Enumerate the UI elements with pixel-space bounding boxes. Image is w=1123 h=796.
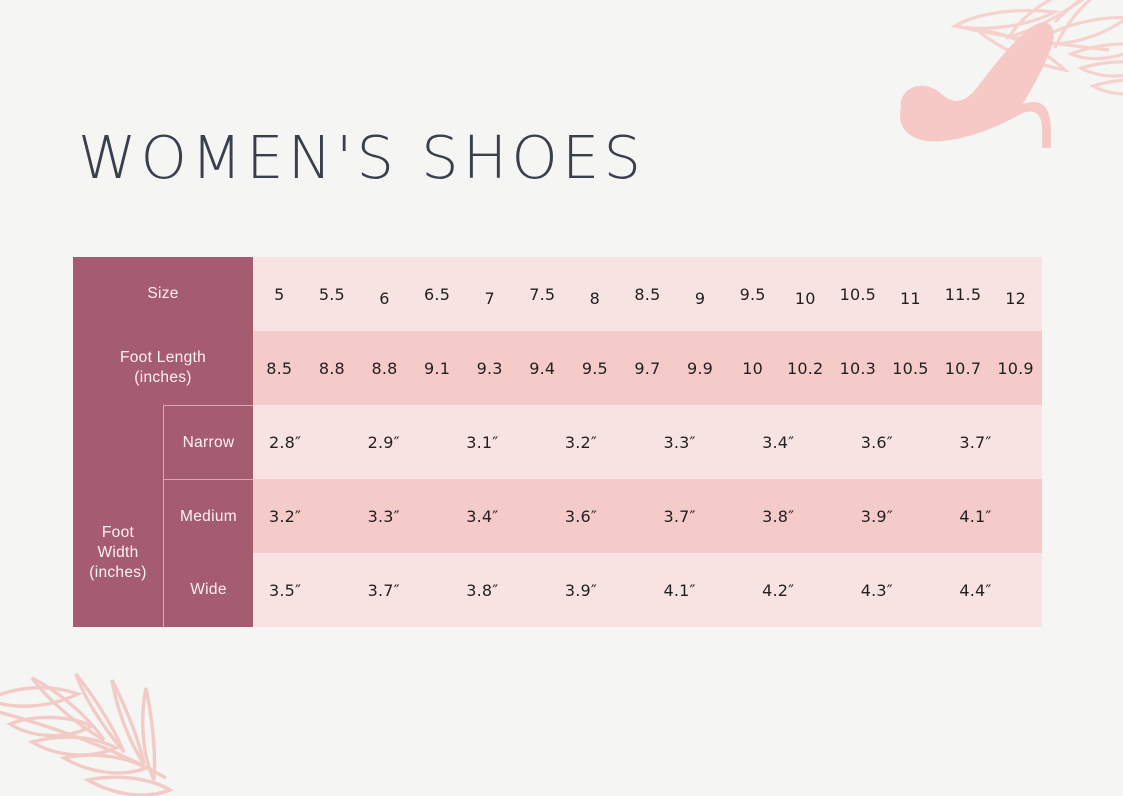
cell-foot-length: 9.5 bbox=[569, 331, 622, 405]
cell-foot-length: 9.3 bbox=[463, 331, 516, 405]
cell-size: 5 bbox=[253, 257, 306, 331]
page-title: WOMEN'S SHOES bbox=[78, 128, 645, 187]
cell-medium: 3.3″ bbox=[352, 479, 451, 553]
cell-size: 6.5 bbox=[411, 257, 464, 331]
leaf-branch-outline bbox=[0, 628, 270, 796]
cell-wide-width: 4.4″ bbox=[943, 553, 1042, 627]
cell-size: 12 bbox=[989, 261, 1042, 335]
sub-label-wide: Wide bbox=[163, 553, 253, 627]
row-label-size: Size bbox=[73, 257, 253, 331]
cell-wide-width: 3.9″ bbox=[549, 553, 648, 627]
row-label-foot-width-spacer bbox=[73, 479, 163, 553]
cell-foot-length: 9.7 bbox=[621, 331, 674, 405]
cell-wide-width: 3.7″ bbox=[352, 553, 451, 627]
cell-medium: 3.6″ bbox=[549, 479, 648, 553]
cell-narrow: 3.4″ bbox=[746, 405, 845, 479]
cell-narrow: 3.1″ bbox=[450, 405, 549, 479]
row-label-foot-length: Foot Length (inches) bbox=[73, 331, 253, 405]
cell-narrow: 3.2″ bbox=[549, 405, 648, 479]
cell-foot-length: 9.4 bbox=[516, 331, 569, 405]
cell-size: 7.5 bbox=[516, 257, 569, 331]
cell-size: 10 bbox=[779, 261, 832, 335]
row-label-foot-width-spacer bbox=[73, 405, 163, 479]
cell-foot-length: 10.5 bbox=[884, 331, 937, 405]
cell-medium: 3.9″ bbox=[845, 479, 944, 553]
cell-narrow: 2.9″ bbox=[352, 405, 451, 479]
cell-narrow: 2.8″ bbox=[253, 405, 352, 479]
sub-label-medium: Medium bbox=[163, 479, 253, 553]
cell-size: 8.5 bbox=[621, 257, 674, 331]
row-label-foot-width-spacer bbox=[73, 553, 163, 627]
cell-foot-length: 8.8 bbox=[306, 331, 359, 405]
size-chart-page: WOMEN'S SHOES Size 5 5.5 6 6.5 7 7.5 8 8… bbox=[0, 0, 1123, 796]
cell-foot-length: 10.7 bbox=[937, 331, 990, 405]
cell-wide-width: 4.2″ bbox=[746, 553, 845, 627]
cell-narrow: 3.7″ bbox=[943, 405, 1042, 479]
cell-wide-width: 3.8″ bbox=[450, 553, 549, 627]
narrow-values: 2.8″ 2.9″ 3.1″ 3.2″ 3.3″ 3.4″ 3.6″ 3.7″ bbox=[253, 405, 1042, 479]
cell-foot-length: 8.5 bbox=[253, 331, 306, 405]
cell-size: 8 bbox=[569, 261, 622, 335]
cell-narrow: 3.6″ bbox=[845, 405, 944, 479]
cell-foot-length: 10 bbox=[726, 331, 779, 405]
cell-foot-length: 9.9 bbox=[674, 331, 727, 405]
table-row-wide: Wide 3.5″ 3.7″ 3.8″ 3.9″ 4.1″ 4.2″ 4.3″ … bbox=[73, 553, 1042, 627]
cell-wide-width: 3.5″ bbox=[253, 553, 352, 627]
row-label-foot-length-line2: (inches) bbox=[134, 369, 192, 386]
size-chart-table: Size 5 5.5 6 6.5 7 7.5 8 8.5 9 9.5 10 10… bbox=[73, 257, 1042, 627]
leaf-branch-outline bbox=[955, 0, 1123, 94]
cell-size: 9.5 bbox=[726, 257, 779, 331]
sub-label-narrow: Narrow bbox=[163, 405, 253, 479]
cell-foot-length: 9.1 bbox=[411, 331, 464, 405]
cell-size: 10.5 bbox=[832, 257, 885, 331]
cell-wide-width: 4.1″ bbox=[648, 553, 747, 627]
cell-foot-length: 8.8 bbox=[358, 331, 411, 405]
cell-medium: 3.7″ bbox=[648, 479, 747, 553]
cell-size: 11 bbox=[884, 261, 937, 335]
cell-foot-length: 10.2 bbox=[779, 331, 832, 405]
size-values: 5 5.5 6 6.5 7 7.5 8 8.5 9 9.5 10 10.5 11… bbox=[253, 257, 1042, 331]
cell-foot-length: 10.3 bbox=[832, 331, 885, 405]
cell-medium: 4.1″ bbox=[943, 479, 1042, 553]
cell-medium: 3.4″ bbox=[450, 479, 549, 553]
cell-medium: 3.8″ bbox=[746, 479, 845, 553]
cell-foot-length: 10.9 bbox=[989, 331, 1042, 405]
table-row-narrow: Narrow 2.8″ 2.9″ 3.1″ 3.2″ 3.3″ 3.4″ 3.6… bbox=[73, 405, 1042, 479]
cell-size: 7 bbox=[463, 261, 516, 335]
cell-size: 9 bbox=[674, 261, 727, 335]
wide-values: 3.5″ 3.7″ 3.8″ 3.9″ 4.1″ 4.2″ 4.3″ 4.4″ bbox=[253, 553, 1042, 627]
cell-size: 5.5 bbox=[306, 257, 359, 331]
high-heel-shoe-illustration bbox=[859, 0, 1123, 192]
cell-narrow: 3.3″ bbox=[648, 405, 747, 479]
cell-size: 6 bbox=[358, 261, 411, 335]
table-row-foot-length: Foot Length (inches) 8.5 8.8 8.8 9.1 9.3… bbox=[73, 331, 1042, 405]
cell-size: 11.5 bbox=[937, 257, 990, 331]
medium-values: 3.2″ 3.3″ 3.4″ 3.6″ 3.7″ 3.8″ 3.9″ 4.1″ bbox=[253, 479, 1042, 553]
cell-medium: 3.2″ bbox=[253, 479, 352, 553]
row-label-foot-length-line1: Foot Length bbox=[120, 349, 206, 366]
table-row-size: Size 5 5.5 6 6.5 7 7.5 8 8.5 9 9.5 10 10… bbox=[73, 257, 1042, 331]
shoe-silhouette bbox=[900, 22, 1054, 148]
table-row-medium: Medium 3.2″ 3.3″ 3.4″ 3.6″ 3.7″ 3.8″ 3.9… bbox=[73, 479, 1042, 553]
cell-wide-width: 4.3″ bbox=[845, 553, 944, 627]
foot-length-values: 8.5 8.8 8.8 9.1 9.3 9.4 9.5 9.7 9.9 10 1… bbox=[253, 331, 1042, 405]
